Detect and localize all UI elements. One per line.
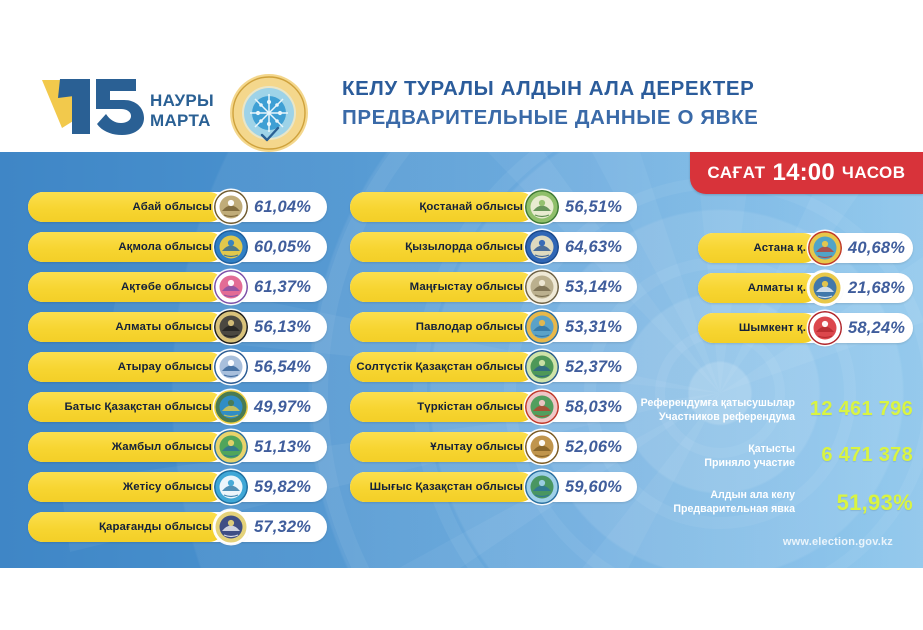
region-name: Ақтөбе облысы	[36, 272, 212, 302]
svg-text:МАРТА: МАРТА	[150, 111, 211, 130]
website-url[interactable]: www.election.gov.kz	[783, 536, 893, 548]
region-row[interactable]: Қызылорда облысы64,63%	[350, 232, 637, 262]
summary-row-voted: Қатысты Приняло участие 6 471 378	[648, 442, 923, 480]
region-row[interactable]: Шығыс Қазақстан облысы59,60%	[350, 472, 637, 502]
region-name: Қостанай облысы	[358, 192, 523, 222]
turnout-percent: 21,68%	[848, 273, 905, 303]
region-name: Абай облысы	[36, 192, 212, 222]
almaty-city-emblem	[808, 271, 842, 305]
region-row[interactable]: Абай облысы61,04%	[28, 192, 327, 222]
summary-value: 6 471 378	[821, 444, 913, 467]
turkistan-emblem	[525, 390, 559, 424]
west-kazakhstan-emblem	[214, 390, 248, 424]
region-name: Жамбыл облысы	[36, 432, 212, 462]
kostanay-emblem	[525, 190, 559, 224]
summary-label-ru: Предварительная явка	[673, 502, 795, 516]
pavlodar-emblem	[525, 310, 559, 344]
akmola-emblem	[214, 230, 248, 264]
region-row[interactable]: Алматы облысы56,13%	[28, 312, 327, 342]
turnout-percent: 59,60%	[565, 472, 622, 502]
turnout-percent: 40,68%	[848, 233, 905, 263]
turnout-percent: 64,63%	[565, 232, 622, 262]
turnout-percent: 58,24%	[848, 313, 905, 343]
time-banner: САҒАТ 14:00 ЧАСОВ	[690, 152, 923, 194]
turnout-percent: 51,13%	[254, 432, 311, 462]
summary-label: Референдумға қатысушылар Участников рефе…	[641, 396, 795, 424]
karaganda-emblem	[214, 510, 248, 544]
region-row[interactable]: Маңғыстау облысы53,14%	[350, 272, 637, 302]
time-suffix: ЧАСОВ	[842, 163, 906, 183]
summary-value: 12 461 796	[810, 398, 913, 421]
region-row[interactable]: Солтүстік Қазақстан облысы52,37%	[350, 352, 637, 382]
region-name: Шығыс Қазақстан облысы	[358, 472, 523, 502]
region-name: Қарағанды облысы	[36, 512, 212, 542]
region-row[interactable]: Қарағанды облысы57,32%	[28, 512, 327, 542]
region-row[interactable]: Шымкент қ.58,24%	[698, 313, 913, 343]
almaty-region-emblem	[214, 310, 248, 344]
summary-label: Қатысты Приняло участие	[704, 442, 795, 470]
atyrau-emblem	[214, 350, 248, 384]
abai-emblem	[214, 190, 248, 224]
east-kazakhstan-emblem	[525, 470, 559, 504]
time-value: 14:00	[773, 159, 835, 187]
region-row[interactable]: Ұлытау облысы52,06%	[350, 432, 637, 462]
time-prefix: САҒАТ	[707, 163, 765, 183]
header-titles: КЕЛУ ТУРАЛЫ АЛДЫН АЛА ДЕРЕКТЕР ПРЕДВАРИТ…	[342, 74, 902, 132]
region-name: Батыс Қазақстан облысы	[36, 392, 212, 422]
region-name: Жетісу облысы	[36, 472, 212, 502]
region-row[interactable]: Ақмола облысы60,05%	[28, 232, 327, 262]
summary-row-turnout: Алдын ала келу Предварительная явка 51,9…	[648, 488, 923, 526]
header: НАУРЫЗ МАРТА	[0, 0, 923, 152]
region-name: Түркістан облысы	[358, 392, 523, 422]
ulytau-emblem	[525, 430, 559, 464]
region-row[interactable]: Ақтөбе облысы61,37%	[28, 272, 327, 302]
summary-label-ru: Приняло участие	[704, 456, 795, 470]
zhambyl-emblem	[214, 430, 248, 464]
svg-text:НАУРЫЗ: НАУРЫЗ	[150, 91, 213, 110]
aktobe-emblem	[214, 270, 248, 304]
shymkent-emblem	[808, 311, 842, 345]
turnout-percent: 59,82%	[254, 472, 311, 502]
region-row[interactable]: Жетісу облысы59,82%	[28, 472, 327, 502]
summary-label: Алдын ала келу Предварительная явка	[673, 488, 795, 516]
turnout-percent: 56,54%	[254, 352, 311, 382]
summary-label-kz: Алдын ала келу	[673, 488, 795, 502]
zhetysu-emblem	[214, 470, 248, 504]
turnout-percent: 52,37%	[565, 352, 622, 382]
turnout-percent: 52,06%	[565, 432, 622, 462]
summary-label-kz: Қатысты	[704, 442, 795, 456]
north-kazakhstan-emblem	[525, 350, 559, 384]
region-name: Ұлытау облысы	[358, 432, 523, 462]
turnout-percent: 53,14%	[565, 272, 622, 302]
region-name: Алматы қ.	[706, 273, 806, 303]
summary-row-participants: Референдумға қатысушылар Участников рефе…	[648, 396, 923, 434]
region-name: Астана қ.	[706, 233, 806, 263]
cec-seal-icon	[228, 72, 310, 154]
turnout-percent: 57,32%	[254, 512, 311, 542]
infographic-stage: НАУРЫЗ МАРТА	[0, 0, 923, 630]
astana-emblem	[808, 231, 842, 265]
turnout-percent: 61,04%	[254, 192, 311, 222]
region-name: Ақмола облысы	[36, 232, 212, 262]
turnout-percent: 61,37%	[254, 272, 311, 302]
turnout-percent: 56,13%	[254, 312, 311, 342]
summary-label-ru: Участников референдума	[641, 410, 795, 424]
turnout-percent: 56,51%	[565, 192, 622, 222]
region-row[interactable]: Жамбыл облысы51,13%	[28, 432, 327, 462]
kyzylorda-emblem	[525, 230, 559, 264]
region-row[interactable]: Атырау облысы56,54%	[28, 352, 327, 382]
region-name: Алматы облысы	[36, 312, 212, 342]
region-row[interactable]: Түркістан облысы58,03%	[350, 392, 637, 422]
logo-15-naurz: НАУРЫЗ МАРТА	[38, 78, 213, 140]
turnout-percent: 60,05%	[254, 232, 311, 262]
region-row[interactable]: Алматы қ.21,68%	[698, 273, 913, 303]
region-row[interactable]: Қостанай облысы56,51%	[350, 192, 637, 222]
title-kz: КЕЛУ ТУРАЛЫ АЛДЫН АЛА ДЕРЕКТЕР	[342, 74, 902, 103]
region-name: Қызылорда облысы	[358, 232, 523, 262]
region-row[interactable]: Астана қ.40,68%	[698, 233, 913, 263]
region-row[interactable]: Павлодар облысы53,31%	[350, 312, 637, 342]
region-name: Солтүстік Қазақстан облысы	[358, 352, 523, 382]
region-name: Маңғыстау облысы	[358, 272, 523, 302]
summary-block: Референдумға қатысушылар Участников рефе…	[648, 396, 923, 534]
region-row[interactable]: Батыс Қазақстан облысы49,97%	[28, 392, 327, 422]
turnout-percent: 53,31%	[565, 312, 622, 342]
turnout-percent: 49,97%	[254, 392, 311, 422]
region-name: Павлодар облысы	[358, 312, 523, 342]
turnout-percent: 58,03%	[565, 392, 622, 422]
summary-value: 51,93%	[837, 490, 913, 516]
region-name: Атырау облысы	[36, 352, 212, 382]
mangystau-emblem	[525, 270, 559, 304]
region-name: Шымкент қ.	[706, 313, 806, 343]
summary-label-kz: Референдумға қатысушылар	[641, 396, 795, 410]
title-ru: ПРЕДВАРИТЕЛЬНЫЕ ДАННЫЕ О ЯВКЕ	[342, 103, 902, 132]
